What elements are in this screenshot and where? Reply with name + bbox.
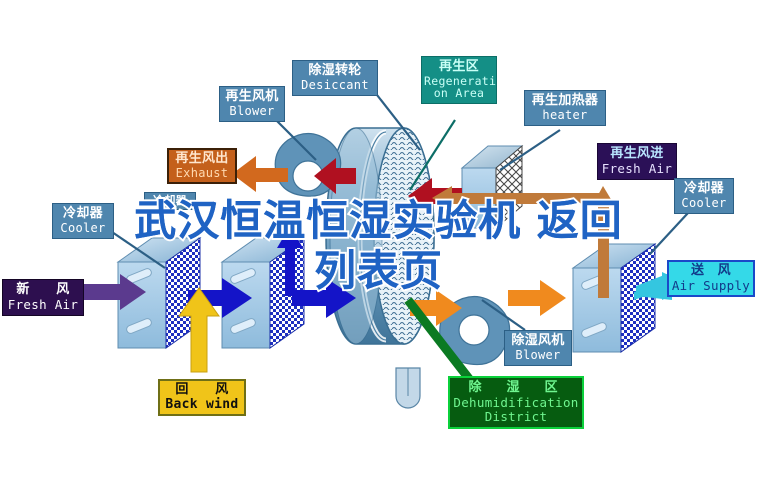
label-dehumid-district-en2: District (452, 410, 580, 424)
label-cooler-mid[interactable]: 冷却器 (144, 192, 196, 210)
label-cooler-right[interactable]: 冷却器 Cooler (674, 178, 734, 214)
label-regen-blower-en: Blower (222, 105, 282, 118)
label-cooler-left[interactable]: 冷却器 Cooler (52, 203, 114, 239)
label-regen-area-cn: 再生区 (424, 60, 494, 75)
label-desiccant-rotor[interactable]: 除湿转轮 Desiccant (292, 60, 378, 96)
label-cooler-left-en: Cooler (55, 222, 111, 235)
label-fresh-air-cn: 新 风 (5, 283, 81, 298)
label-cooler-right-cn: 冷却器 (677, 182, 731, 197)
label-regen-fresh-air-cn: 再生风进 (600, 147, 674, 162)
label-regen-blower[interactable]: 再生风机 Blower (219, 86, 285, 122)
label-regen-area[interactable]: 再生区 Regenerati on Area (421, 56, 497, 104)
label-back-wind[interactable]: 回 风 Back wind (158, 379, 246, 416)
label-regen-heater-en: heater (527, 109, 603, 122)
label-cooler-left-cn: 冷却器 (55, 207, 111, 222)
label-air-supply-cn: 送 风 (671, 264, 751, 279)
label-regen-area-en2: on Area (424, 87, 494, 100)
label-dehumid-blower-cn: 除湿风机 (507, 334, 569, 349)
label-back-wind-en: Back wind (162, 398, 242, 413)
drain-pan (396, 368, 420, 408)
label-air-supply[interactable]: 送 风 Air Supply (667, 260, 755, 297)
label-cooler-mid-cn: 冷却器 (147, 195, 193, 207)
label-back-wind-cn: 回 风 (162, 383, 242, 398)
label-regen-heater[interactable]: 再生加热器 heater (524, 90, 606, 126)
label-exhaust-cn: 再生风出 (171, 152, 233, 167)
label-regen-heater-cn: 再生加热器 (527, 94, 603, 109)
label-fresh-air-en: Fresh Air (5, 298, 81, 312)
label-regen-fresh-air-en: Fresh Air (600, 162, 674, 176)
label-fresh-air[interactable]: 新 风 Fresh Air (2, 279, 84, 316)
arrow-blower-out (508, 280, 566, 316)
label-dehumid-blower[interactable]: 除湿风机 Blower (504, 330, 572, 366)
label-desiccant-rotor-cn: 除湿转轮 (295, 64, 375, 79)
label-dehumid-district[interactable]: 除 湿 区 Dehumidification District (448, 376, 584, 429)
label-dehumid-blower-en: Blower (507, 349, 569, 362)
cooler-block-3 (573, 244, 655, 352)
label-desiccant-rotor-en: Desiccant (295, 79, 375, 92)
label-dehumid-district-en1: Dehumidification (452, 396, 580, 410)
label-regen-blower-cn: 再生风机 (222, 90, 282, 105)
label-air-supply-en: Air Supply (671, 279, 751, 293)
label-cooler-right-en: Cooler (677, 197, 731, 210)
label-exhaust[interactable]: 再生风出 Exhaust (167, 148, 237, 184)
heater-block (462, 146, 522, 228)
label-exhaust-en: Exhaust (171, 167, 233, 180)
label-regen-fresh-air[interactable]: 再生风进 Fresh Air (597, 143, 677, 180)
label-dehumid-district-cn: 除 湿 区 (452, 381, 580, 396)
diagram-canvas: 除湿转轮 Desiccant 再生风机 Blower 再生区 Regenerat… (0, 0, 757, 488)
diagram-graphics (0, 0, 757, 488)
